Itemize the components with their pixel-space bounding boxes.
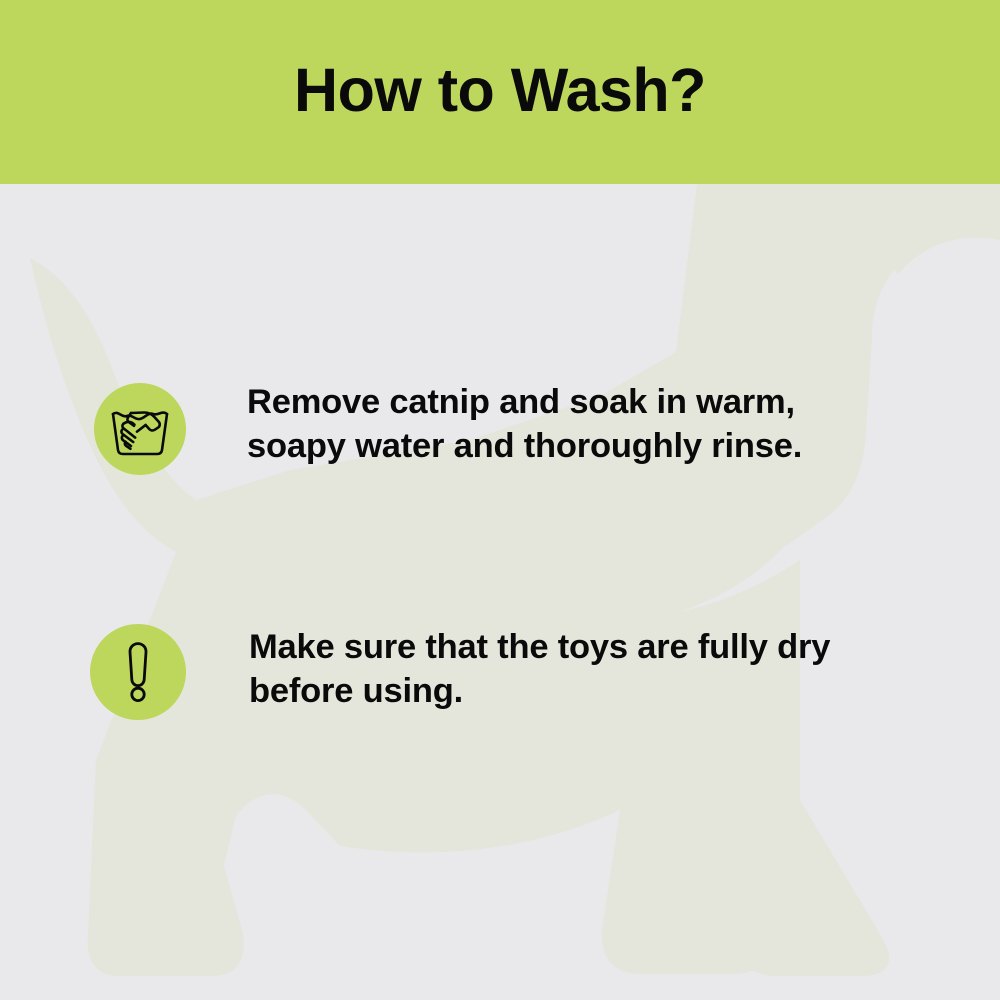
dog-ear <box>866 184 1000 274</box>
header-band: How to Wash? <box>0 0 1000 184</box>
exclamation-mark-icon <box>121 641 155 703</box>
dog-hind-leg <box>88 760 244 976</box>
page-title: How to Wash? <box>294 60 706 125</box>
instruction-text: Remove catnip and soak in warm, soapy wa… <box>247 381 887 469</box>
dog-head <box>676 184 1000 546</box>
icon-badge-warning <box>90 624 186 720</box>
instruction-text: Make sure that the toys are fully dry be… <box>249 626 929 714</box>
hand-wash-icon <box>109 400 171 458</box>
dog-body <box>88 500 800 974</box>
dog-front-leg <box>739 560 889 976</box>
instruction-row: Remove catnip and soak in warm, soapy wa… <box>94 383 887 475</box>
how-to-wash-poster: How to Wash? <box>0 0 1000 1000</box>
instruction-row: Make sure that the toys are fully dry be… <box>90 624 929 720</box>
icon-badge-hand-wash <box>94 383 186 475</box>
